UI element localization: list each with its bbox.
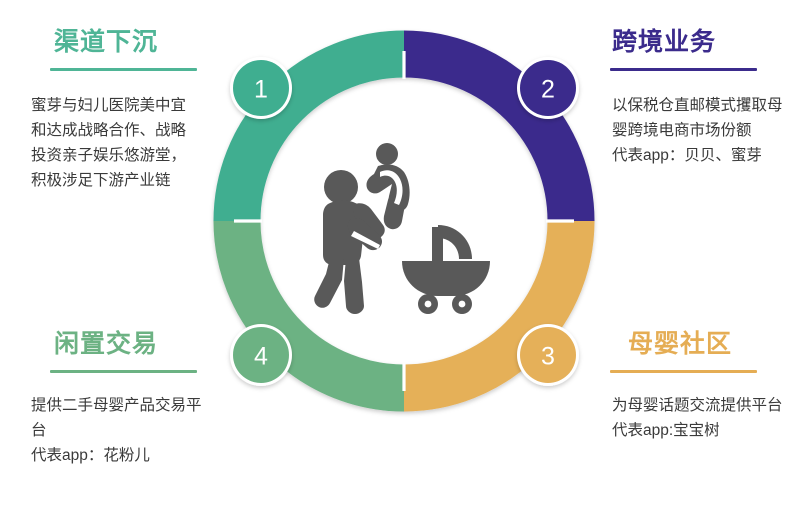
donut-badge-1-number: 1 bbox=[254, 76, 268, 104]
quadrant-2-title: 跨境业务 bbox=[600, 28, 794, 57]
parent-with-baby-and-stroller-icon bbox=[310, 142, 494, 314]
quadrant-1-body: 蜜芽与妇儿医院美中宜和达成战略合作、战略投资亲子娱乐悠游堂，积极涉足下游产业链 bbox=[31, 93, 199, 193]
quadrant-4-divider bbox=[50, 370, 197, 373]
quadrant-block-2: 跨境业务 以保税仓直邮模式攫取母婴跨境电商市场份额 代表app：贝贝、蜜芽 bbox=[600, 28, 794, 168]
quadrant-1-divider bbox=[50, 68, 197, 71]
quadrant-3-title: 母婴社区 bbox=[600, 330, 794, 359]
donut-badge-2[interactable]: 2 bbox=[517, 57, 579, 119]
quadrant-block-1: 渠道下沉 蜜芽与妇儿医院美中宜和达成战略合作、战略投资亲子娱乐悠游堂，积极涉足下… bbox=[0, 28, 200, 193]
quadrant-4-title: 闲置交易 bbox=[0, 330, 200, 359]
donut-badge-4-number: 4 bbox=[254, 343, 268, 371]
donut-badge-3[interactable]: 3 bbox=[517, 324, 579, 386]
quadrant-block-4: 闲置交易 提供二手母婴产品交易平台 代表app：花粉儿 bbox=[0, 330, 200, 468]
infographic-canvas: 渠道下沉 蜜芽与妇儿医院美中宜和达成战略合作、战略投资亲子娱乐悠游堂，积极涉足下… bbox=[0, 0, 794, 505]
donut-badge-3-number: 3 bbox=[541, 343, 555, 371]
quadrant-3-divider bbox=[610, 370, 757, 373]
quadrant-1-title: 渠道下沉 bbox=[0, 28, 200, 57]
donut-badge-1[interactable]: 1 bbox=[230, 57, 292, 119]
quadrant-block-3: 母婴社区 为母婴话题交流提供平台 代表app:宝宝树 bbox=[600, 330, 794, 443]
quadrant-4-body: 提供二手母婴产品交易平台 代表app：花粉儿 bbox=[31, 393, 203, 468]
quadrant-2-body: 以保税仓直邮模式攫取母婴跨境电商市场份额 代表app：贝贝、蜜芽 bbox=[612, 93, 794, 168]
quadrant-2-divider bbox=[610, 68, 757, 71]
quadrant-3-body: 为母婴话题交流提供平台 代表app:宝宝树 bbox=[612, 393, 794, 443]
donut-badge-2-number: 2 bbox=[541, 76, 555, 104]
donut-badge-4[interactable]: 4 bbox=[230, 324, 292, 386]
